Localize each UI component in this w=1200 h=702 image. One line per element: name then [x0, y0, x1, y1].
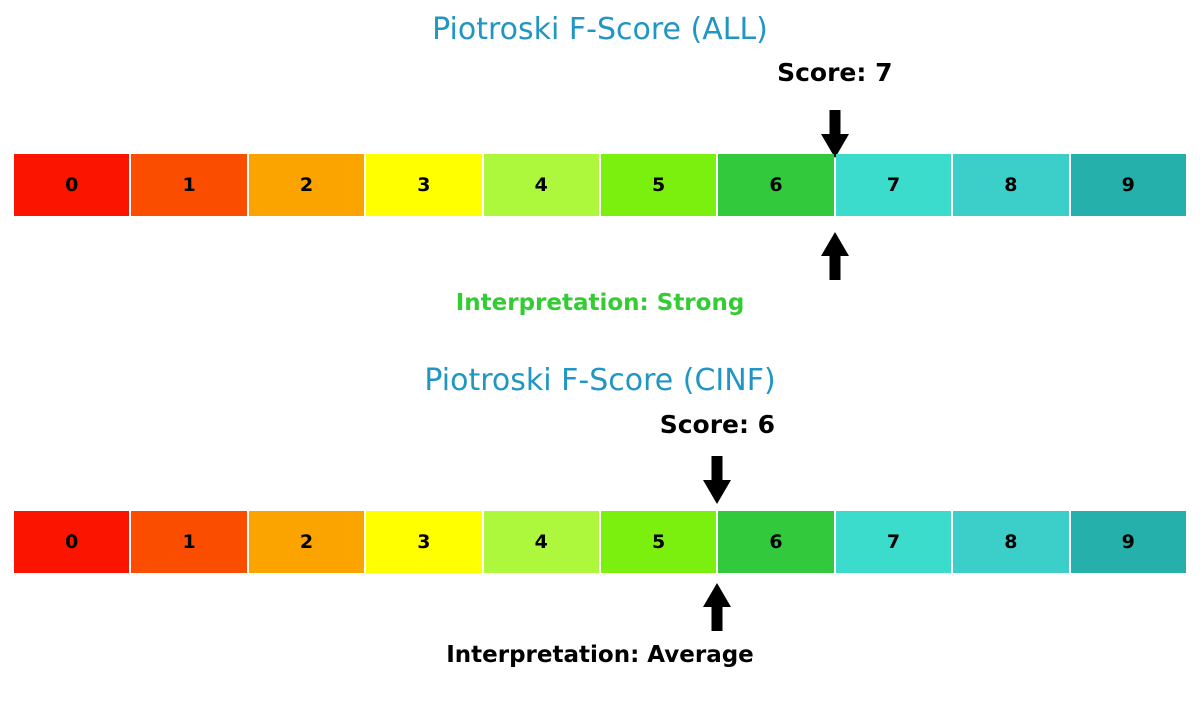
scale-segment[interactable]: 9: [1071, 154, 1186, 216]
fscore-panel-cinf: Piotroski F-Score (CINF) Score: 6 0 1 2 …: [0, 351, 1200, 702]
score-marker-arrow-up-cinf: [700, 583, 734, 643]
scale-segment-label: 5: [652, 533, 665, 552]
scale-segment-label: 5: [652, 176, 665, 195]
scale-segment[interactable]: 5: [601, 511, 716, 573]
scale-segment[interactable]: 6: [718, 511, 833, 573]
scale-segment-label: 2: [300, 176, 313, 195]
scale-segment-label: 6: [769, 176, 782, 195]
scale-segment[interactable]: 4: [484, 154, 599, 216]
page-title-cinf: Piotroski F-Score (CINF): [0, 363, 1200, 398]
scale-segment-label: 1: [182, 176, 195, 195]
scale-segment[interactable]: 7: [836, 511, 951, 573]
scale-segment[interactable]: 3: [366, 154, 481, 216]
scale-segment[interactable]: 2: [249, 154, 364, 216]
scale-segment[interactable]: 1: [131, 154, 246, 216]
scale-segment[interactable]: 9: [1071, 511, 1186, 573]
scale-segment-label: 4: [535, 533, 548, 552]
fscore-panel-all: Piotroski F-Score (ALL) Score: 7 0 1 2 3…: [0, 0, 1200, 340]
fscore-scale-bar-cinf: 0 1 2 3 4 5 6 7 8 9: [14, 511, 1186, 573]
scale-segment[interactable]: 3: [366, 511, 481, 573]
interpretation-label-cinf: Interpretation: Average: [446, 642, 754, 668]
scale-segment-label: 3: [417, 176, 430, 195]
scale-segment-label: 0: [65, 533, 78, 552]
scale-segment[interactable]: 4: [484, 511, 599, 573]
scale-segment[interactable]: 8: [953, 154, 1068, 216]
scale-segment-label: 6: [769, 533, 782, 552]
scale-segment[interactable]: 0: [14, 154, 129, 216]
score-marker-arrow-up-all: [818, 232, 852, 292]
score-label-all: Score: 7: [777, 58, 892, 87]
scale-segment-label: 3: [417, 533, 430, 552]
fscore-scale-bar-all: 0 1 2 3 4 5 6 7 8 9: [14, 154, 1186, 216]
scale-segment-label: 7: [887, 533, 900, 552]
scale-segment-label: 7: [887, 176, 900, 195]
scale-segment[interactable]: 1: [131, 511, 246, 573]
scale-segment[interactable]: 2: [249, 511, 364, 573]
scale-segment-label: 4: [535, 176, 548, 195]
scale-segment-label: 8: [1004, 533, 1017, 552]
scale-segment-label: 9: [1122, 533, 1135, 552]
score-label-cinf: Score: 6: [660, 410, 775, 439]
interpretation-label-all: Interpretation: Strong: [456, 290, 745, 316]
scale-segment[interactable]: 8: [953, 511, 1068, 573]
scale-segment-label: 1: [182, 533, 195, 552]
scale-segment[interactable]: 7: [836, 154, 951, 216]
scale-segment-label: 2: [300, 533, 313, 552]
score-marker-arrow-down-cinf: [700, 456, 734, 516]
scale-segment[interactable]: 5: [601, 154, 716, 216]
page-title-all: Piotroski F-Score (ALL): [0, 12, 1200, 47]
scale-segment-label: 8: [1004, 176, 1017, 195]
scale-segment[interactable]: 0: [14, 511, 129, 573]
scale-segment-label: 0: [65, 176, 78, 195]
scale-segment-label: 9: [1122, 176, 1135, 195]
scale-segment[interactable]: 6: [718, 154, 833, 216]
